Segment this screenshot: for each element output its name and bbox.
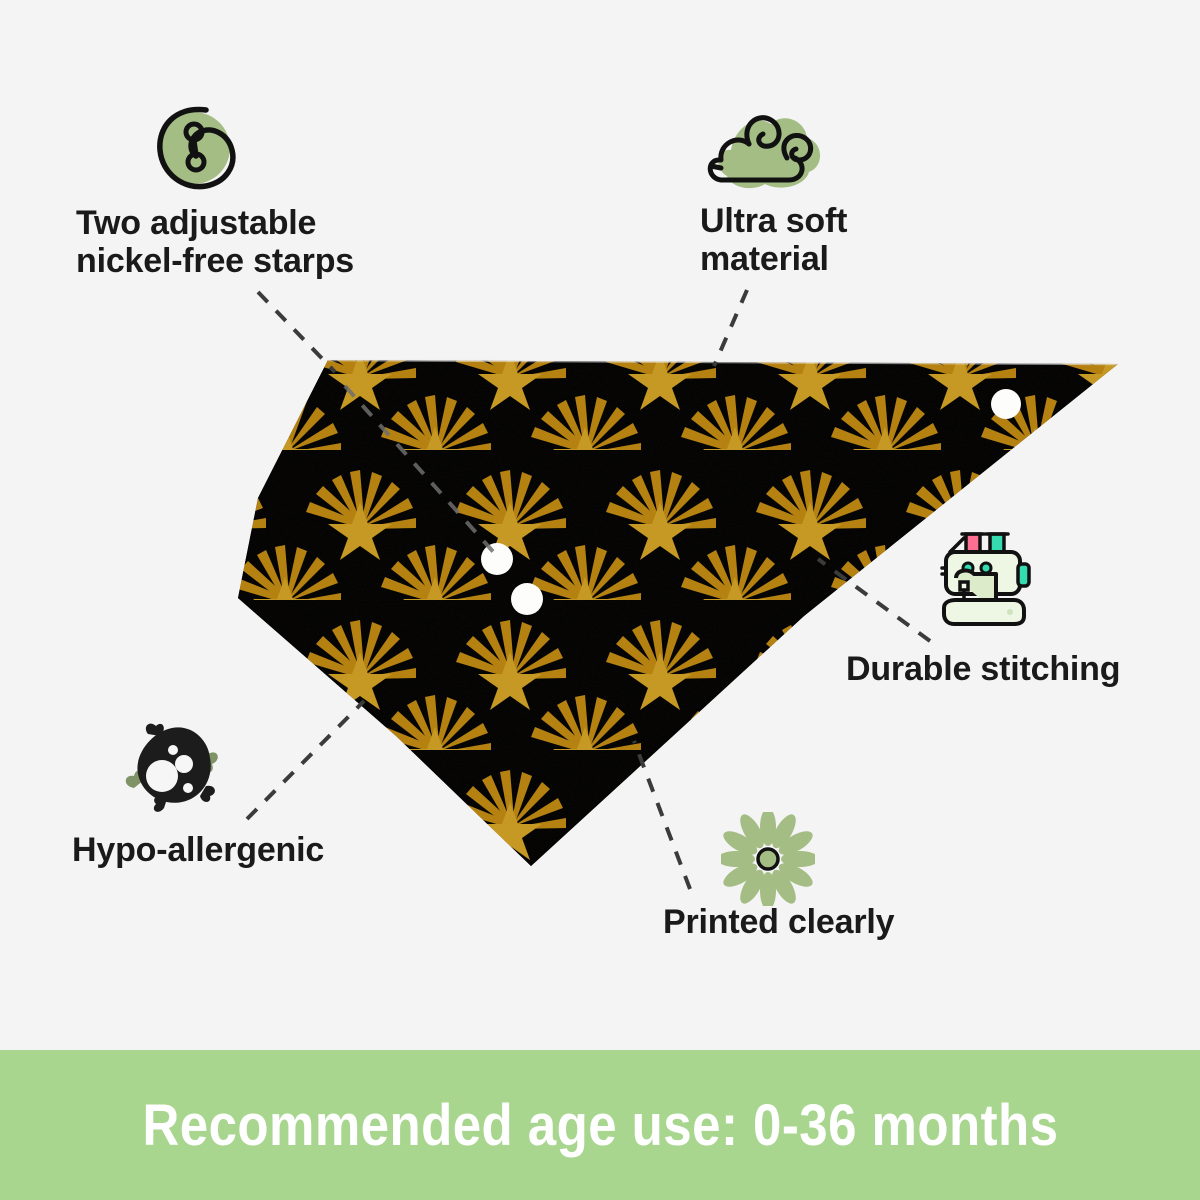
sewing-machine-icon — [934, 528, 1038, 636]
callout-line: material — [700, 240, 847, 278]
callout-line: Two adjustable — [76, 204, 354, 242]
leader-line-printed — [634, 741, 690, 889]
recommended-age-text: Recommended age use: 0-36 months — [142, 1092, 1058, 1159]
strap-clasp-icon — [144, 96, 244, 200]
callout-line: Ultra soft — [700, 202, 847, 240]
callout-printed-clearly: Printed clearly — [663, 903, 894, 941]
leader-line-soft — [714, 290, 747, 366]
recommended-age-banner: Recommended age use: 0-36 months — [0, 1050, 1200, 1200]
callout-hypo-allergenic: Hypo-allergenic — [72, 831, 324, 869]
snap-button — [481, 543, 513, 575]
callout-line: Durable stitching — [846, 650, 1120, 688]
snap-button — [991, 389, 1021, 419]
callout-line: Printed clearly — [663, 903, 894, 941]
snap-button — [511, 583, 543, 615]
allergen-particle-icon — [118, 716, 230, 820]
callout-durable-stitching: Durable stitching — [846, 650, 1120, 688]
callout-line: nickel-free starps — [76, 242, 354, 280]
infographic-canvas: Two adjustable nickel-free starps Ultra … — [0, 0, 1200, 1200]
leader-line-straps — [258, 292, 335, 372]
leader-line-stitching — [818, 559, 930, 641]
callout-two-adjustable-straps: Two adjustable nickel-free starps — [76, 204, 354, 280]
callout-ultra-soft-material: Ultra soft material — [700, 202, 847, 278]
callout-line: Hypo-allergenic — [72, 831, 324, 869]
soft-cloud-icon — [697, 104, 831, 196]
leader-line-hypo — [247, 701, 364, 819]
daisy-flower-icon — [721, 812, 815, 906]
